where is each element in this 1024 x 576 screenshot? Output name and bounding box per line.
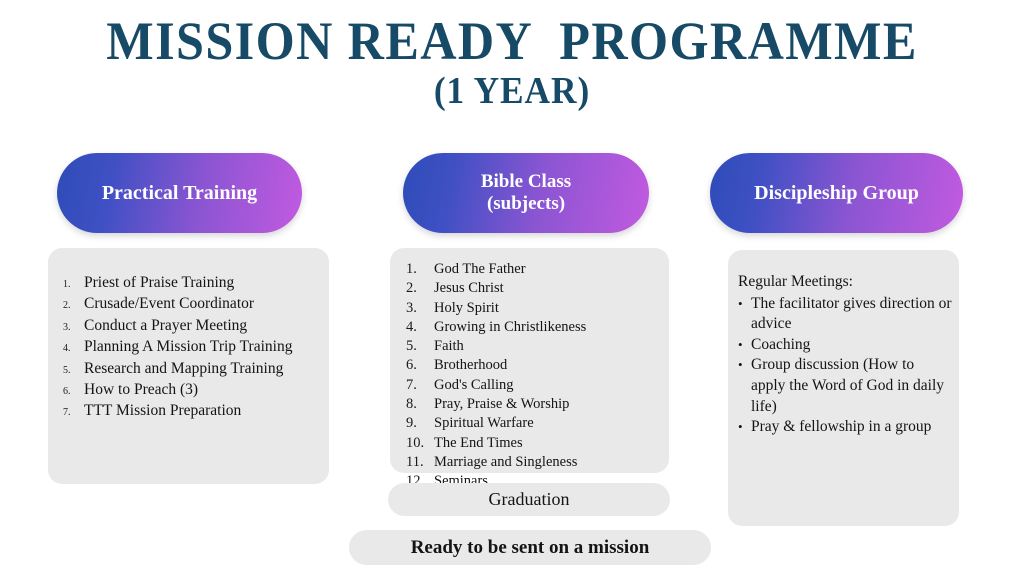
list-item: • Group discussion (How to apply the Wor… (738, 355, 952, 417)
list-item: 6. Brotherhood (406, 356, 658, 375)
discipleship-heading: Regular Meetings: (738, 272, 952, 293)
page-title: MISSION READY PROGRAMME (1 YEAR) (0, 14, 1024, 110)
slide-canvas: MISSION READY PROGRAMME (1 YEAR) Practic… (0, 0, 1024, 576)
list-marker: 10. (406, 434, 434, 453)
list-item-label: Group discussion (How to apply the Word … (751, 355, 952, 417)
list-marker: 7. (60, 406, 84, 420)
list-marker: 9. (406, 414, 434, 433)
list-item: 5. Faith (406, 337, 658, 356)
list-practical-training: 1. Priest of Praise Training 2. Crusade/… (60, 272, 322, 422)
list-item: • Coaching (738, 335, 952, 356)
list-item: • Pray & fellowship in a group (738, 417, 952, 438)
list-marker: 3. (406, 299, 434, 318)
pill-label-bible-class: Bible Class (481, 171, 571, 193)
list-item: 1. God The Father (406, 260, 658, 279)
bullet-icon: • (738, 356, 751, 373)
list-item: 1. Priest of Praise Training (60, 272, 322, 293)
list-item-label: The facilitator gives direction or advic… (751, 294, 952, 335)
list-marker: 5. (406, 337, 434, 356)
list-item-label: Jesus Christ (434, 279, 658, 298)
pill-label-practical-training: Practical Training (102, 182, 257, 205)
list-item-label: Research and Mapping Training (84, 358, 322, 379)
list-item: 7. God's Calling (406, 376, 658, 395)
list-item-label: Brotherhood (434, 356, 658, 375)
list-marker: 5. (60, 364, 84, 378)
list-marker: 1. (406, 260, 434, 279)
list-bible-class-subjects: 1. God The Father 2. Jesus Christ 3. Hol… (406, 260, 658, 491)
list-item-label: Conduct a Prayer Meeting (84, 315, 322, 336)
discipleship-content: Regular Meetings: • The facilitator give… (738, 272, 952, 438)
column-header-bible-class[interactable]: Bible Class (subjects) (403, 153, 649, 233)
list-item: 9. Spiritual Warfare (406, 414, 658, 433)
list-item: 4. Growing in Christlikeness (406, 318, 658, 337)
list-marker: 1. (60, 278, 84, 292)
list-item-label: Crusade/Event Coordinator (84, 293, 322, 314)
list-item: 3. Holy Spirit (406, 299, 658, 318)
list-item: 4. Planning A Mission Trip Training (60, 336, 322, 357)
list-marker: 8. (406, 395, 434, 414)
list-item-label: Pray & fellowship in a group (751, 417, 952, 438)
ready-for-mission-bar: Ready to be sent on a mission (349, 530, 711, 565)
list-discipleship-activities: • The facilitator gives direction or adv… (738, 294, 952, 438)
list-item-label: God's Calling (434, 376, 658, 395)
list-marker: 2. (60, 299, 84, 313)
bullet-icon: • (738, 336, 751, 353)
list-item: 8. Pray, Praise & Worship (406, 395, 658, 414)
pill-sublabel-bible-class: (subjects) (481, 193, 571, 215)
list-item-label: The End Times (434, 434, 658, 453)
list-item: 7. TTT Mission Preparation (60, 400, 322, 421)
list-item-label: Faith (434, 337, 658, 356)
list-marker: 6. (406, 356, 434, 375)
list-item: 6. How to Preach (3) (60, 379, 322, 400)
list-item-label: Holy Spirit (434, 299, 658, 318)
list-marker: 6. (60, 385, 84, 399)
list-item-label: Growing in Christlikeness (434, 318, 658, 337)
column-header-discipleship-group[interactable]: Discipleship Group (710, 153, 963, 233)
list-marker: 2. (406, 279, 434, 298)
list-item: 10. The End Times (406, 434, 658, 453)
list-item: 5. Research and Mapping Training (60, 358, 322, 379)
list-item-label: Priest of Praise Training (84, 272, 322, 293)
graduation-label: Graduation (489, 489, 570, 510)
title-sub-line: (1 YEAR) (36, 72, 988, 110)
column-header-practical-training[interactable]: Practical Training (57, 153, 302, 233)
list-item: • The facilitator gives direction or adv… (738, 294, 952, 335)
list-item: 11. Marriage and Singleness (406, 453, 658, 472)
list-item-label: How to Preach (3) (84, 379, 322, 400)
list-item-label: Planning A Mission Trip Training (84, 336, 322, 357)
list-item: 2. Crusade/Event Coordinator (60, 293, 322, 314)
list-item: 3. Conduct a Prayer Meeting (60, 315, 322, 336)
bullet-icon: • (738, 295, 751, 312)
list-item-label: Pray, Praise & Worship (434, 395, 658, 414)
list-item-label: Marriage and Singleness (434, 453, 658, 472)
pill-label-discipleship-group: Discipleship Group (754, 182, 919, 205)
list-item-label: TTT Mission Preparation (84, 400, 322, 421)
list-marker: 11. (406, 453, 434, 472)
list-item: 2. Jesus Christ (406, 279, 658, 298)
list-item-label: Spiritual Warfare (434, 414, 658, 433)
bullet-icon: • (738, 418, 751, 435)
list-item-label: God The Father (434, 260, 658, 279)
graduation-bar: Graduation (388, 483, 670, 516)
list-marker: 3. (60, 321, 84, 335)
title-main-line: MISSION READY PROGRAMME (36, 14, 988, 68)
ready-for-mission-label: Ready to be sent on a mission (411, 537, 650, 559)
list-marker: 4. (60, 342, 84, 356)
list-item-label: Coaching (751, 335, 952, 356)
list-marker: 7. (406, 376, 434, 395)
list-marker: 4. (406, 318, 434, 337)
